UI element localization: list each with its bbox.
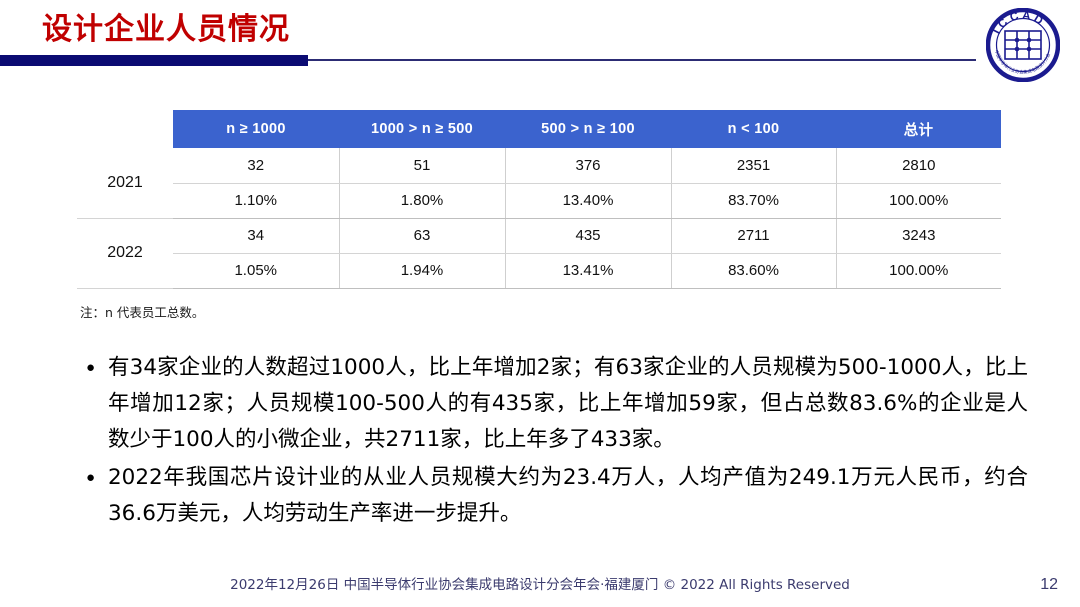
slide-footer: 2022年12月26日 中国半导体行业协会集成电路设计分会年会·福建厦门 © 2… <box>0 574 1080 607</box>
cell-2021-pct-n-ge-1000: 1.10% <box>173 183 339 218</box>
column-header-n-ge-1000: n ≥ 1000 <box>173 110 339 148</box>
slide-title-block: 设计企业人员情况 <box>0 0 1080 75</box>
list-item: ● 2022年我国芯片设计业的从业人员规模大约为23.4万人，人均产值为249.… <box>84 460 1028 532</box>
iccad-logo: I C C A D 中国半导体行业协会集成电路设计分会 <box>986 8 1060 82</box>
cell-2022-pct-500-100: 13.41% <box>505 253 671 288</box>
cell-2021-pct-1000-500: 1.80% <box>339 183 505 218</box>
cell-2022-pct-total: 100.00% <box>836 253 1001 288</box>
bullet-marker-icon: ● <box>84 350 108 386</box>
cell-2021-pct-500-100: 13.40% <box>505 183 671 218</box>
page-number: 12 <box>1040 574 1058 596</box>
cell-2021-count-n-lt-100: 2351 <box>671 148 836 183</box>
row-label-year-2022: 2022 <box>77 218 173 288</box>
table-body: 2021 32 51 376 2351 2810 1.10% 1.80% 13.… <box>77 148 1001 288</box>
cell-2022-count-1000-500: 63 <box>339 218 505 253</box>
cell-2021-count-1000-500: 51 <box>339 148 505 183</box>
iccad-logo-icon: I C C A D 中国半导体行业协会集成电路设计分会 <box>986 8 1060 82</box>
cell-2021-count-500-100: 376 <box>505 148 671 183</box>
table-corner-cell <box>77 110 173 148</box>
cell-2021-count-n-ge-1000: 32 <box>173 148 339 183</box>
footer-copyright: 2022年12月26日 中国半导体行业协会集成电路设计分会年会·福建厦门 © 2… <box>0 574 1080 596</box>
column-header-total: 总计 <box>836 110 1001 148</box>
cell-2022-pct-n-lt-100: 83.60% <box>671 253 836 288</box>
bullet-marker-icon: ● <box>84 460 108 496</box>
cell-2022-pct-1000-500: 1.94% <box>339 253 505 288</box>
cell-2021-count-total: 2810 <box>836 148 1001 183</box>
table-row: 1.10% 1.80% 13.40% 83.70% 100.00% <box>77 183 1001 218</box>
table-note: 注：n 代表员工总数。 <box>80 302 204 321</box>
column-header-500-100: 500 > n ≥ 100 <box>505 110 671 148</box>
row-label-year-2021: 2021 <box>77 148 173 218</box>
column-header-n-lt-100: n < 100 <box>671 110 836 148</box>
page-title: 设计企业人员情况 <box>42 11 290 49</box>
slide-canvas: 设计企业人员情况 I C C A D <box>0 0 1080 607</box>
cell-2021-pct-total: 100.00% <box>836 183 1001 218</box>
cell-2021-pct-n-lt-100: 83.70% <box>671 183 836 218</box>
table-header: n ≥ 1000 1000 > n ≥ 500 500 > n ≥ 100 n … <box>77 110 1001 148</box>
bullet-text-1: 有34家企业的人数超过1000人，比上年增加2家；有63家企业的人员规模为500… <box>108 350 1028 458</box>
cell-2022-count-n-lt-100: 2711 <box>671 218 836 253</box>
table-row: 2021 32 51 376 2351 2810 <box>77 148 1001 183</box>
cell-2022-pct-n-ge-1000: 1.05% <box>173 253 339 288</box>
cell-2022-count-500-100: 435 <box>505 218 671 253</box>
bullet-list: ● 有34家企业的人数超过1000人，比上年增加2家；有63家企业的人员规模为5… <box>84 350 1028 534</box>
personnel-table: n ≥ 1000 1000 > n ≥ 500 500 > n ≥ 100 n … <box>77 110 1001 289</box>
cell-2022-count-n-ge-1000: 34 <box>173 218 339 253</box>
title-accent-bar <box>0 55 308 66</box>
table-row: 1.05% 1.94% 13.41% 83.60% 100.00% <box>77 253 1001 288</box>
bullet-text-2: 2022年我国芯片设计业的从业人员规模大约为23.4万人，人均产值为249.1万… <box>108 460 1028 532</box>
title-accent-line <box>308 59 976 61</box>
column-header-1000-500: 1000 > n ≥ 500 <box>339 110 505 148</box>
list-item: ● 有34家企业的人数超过1000人，比上年增加2家；有63家企业的人员规模为5… <box>84 350 1028 458</box>
table-header-row: n ≥ 1000 1000 > n ≥ 500 500 > n ≥ 100 n … <box>77 110 1001 148</box>
table-row: 2022 34 63 435 2711 3243 <box>77 218 1001 253</box>
cell-2022-count-total: 3243 <box>836 218 1001 253</box>
